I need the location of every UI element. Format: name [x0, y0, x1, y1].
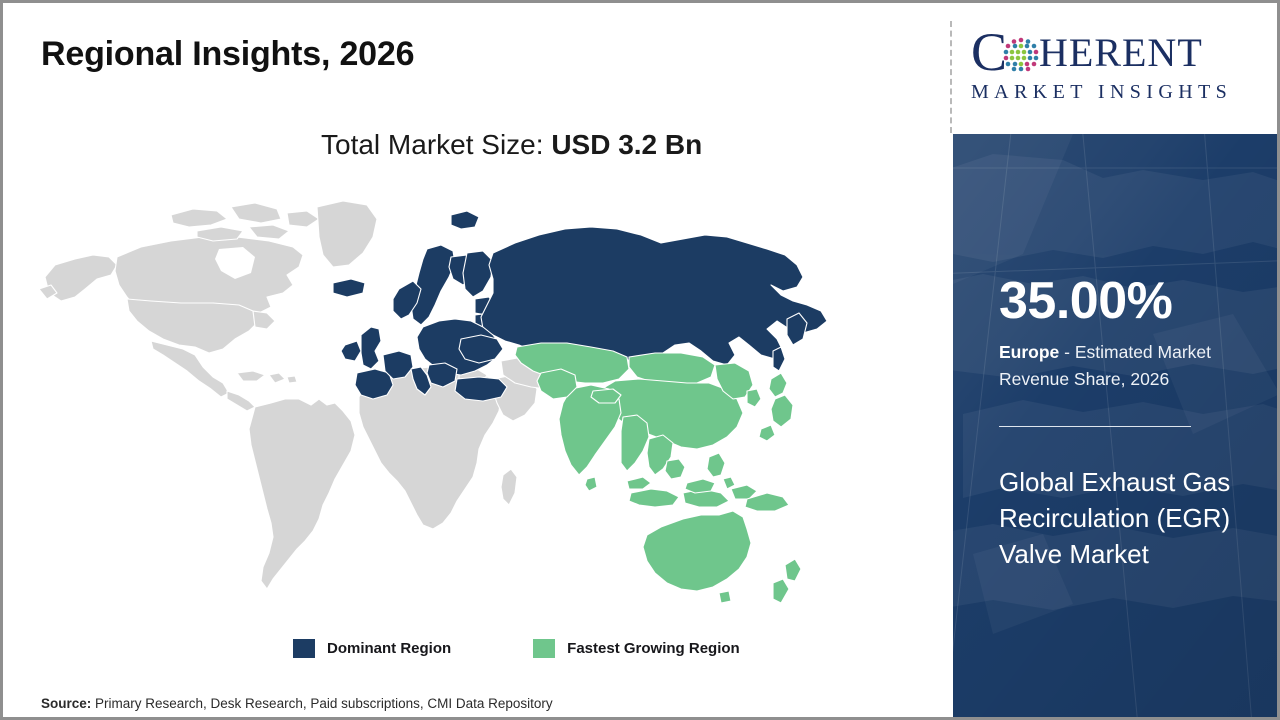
legend-swatch-fastest-icon: [533, 639, 555, 658]
insight-panel: 35.00% Europe - Estimated Market Revenue…: [953, 134, 1280, 717]
market-size-value: USD 3.2 Bn: [551, 129, 702, 160]
revenue-share-caption: Europe - Estimated Market Revenue Share,…: [999, 339, 1243, 393]
infographic-slide: Regional Insights, 2026 Total Market Siz…: [0, 0, 1280, 720]
panel-divider: [999, 426, 1191, 427]
globe-dots-icon: [1001, 34, 1041, 74]
legend-label-dominant: Dominant Region: [327, 640, 451, 657]
source-text: Primary Research, Desk Research, Paid su…: [91, 696, 552, 711]
revenue-share-value: 35.00%: [999, 275, 1172, 327]
source-label: Source:: [41, 696, 91, 711]
left-content-pane: Regional Insights, 2026 Total Market Siz…: [3, 3, 951, 717]
legend-swatch-dominant-icon: [293, 639, 315, 658]
market-report-title: Global Exhaust Gas Recirculation (EGR) V…: [999, 464, 1247, 572]
logo-word-rest: HERENT: [1039, 33, 1203, 73]
map-region-fastest-growing: [515, 343, 801, 603]
legend-item-fastest: Fastest Growing Region: [533, 639, 740, 658]
legend-item-dominant: Dominant Region: [293, 639, 451, 658]
page-title: Regional Insights, 2026: [41, 35, 414, 74]
source-note: Source: Primary Research, Desk Research,…: [41, 696, 553, 711]
market-size-label: Total Market Size:: [321, 129, 544, 160]
map-region-north-america: [39, 201, 377, 589]
world-map-svg: [31, 193, 831, 623]
legend-label-fastest: Fastest Growing Region: [567, 640, 740, 657]
world-map: [31, 193, 831, 623]
logo-subtitle: MARKET INSIGHTS: [971, 81, 1266, 104]
vertical-dashed-divider: [950, 21, 952, 133]
map-legend: Dominant Region Fastest Growing Region: [293, 639, 740, 658]
caption-region: Europe: [999, 342, 1059, 362]
total-market-size: Total Market Size: USD 3.2 Bn: [321, 129, 702, 161]
logo-wordmark: C: [971, 29, 1266, 81]
brand-logo: C: [953, 3, 1280, 134]
logo-inner: C: [971, 29, 1266, 104]
